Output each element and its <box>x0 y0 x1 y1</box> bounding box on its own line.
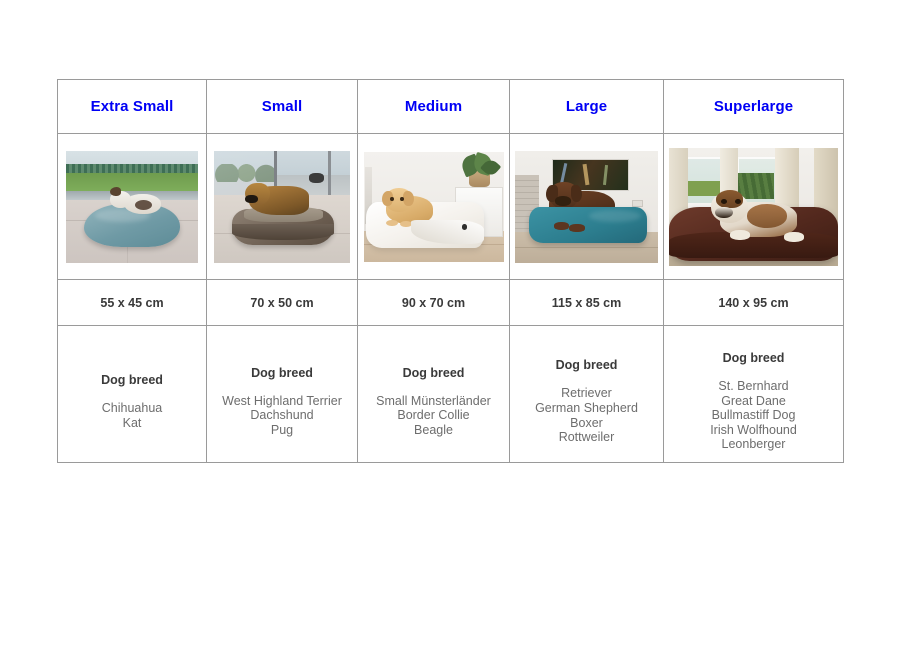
photo-wrapper <box>358 134 509 279</box>
dog-bed-photo-medium <box>364 152 504 262</box>
breed-item: Retriever <box>510 386 663 401</box>
breed-list: RetrieverGerman ShepherdBoxerRottweiler <box>510 386 663 444</box>
breed-list: ChihuahuaKat <box>58 401 206 430</box>
table-row-breeds: Dog breed ChihuahuaKat Dog breed West Hi… <box>58 326 844 463</box>
breed-item: Beagle <box>358 423 509 438</box>
photo-cell-large <box>510 134 664 280</box>
breed-item: Border Collie <box>358 408 509 423</box>
breed-title: Dog breed <box>664 351 843 365</box>
breed-list: West Highland TerrierDachshundPug <box>207 394 357 438</box>
header-cell-small: Small <box>207 80 358 134</box>
photo-wrapper <box>207 134 357 279</box>
breed-item: Leonberger <box>664 437 843 452</box>
dog-bed-photo-extra-small <box>66 151 198 263</box>
photo-scene <box>669 148 838 266</box>
dimensions-label: 70 x 50 cm <box>207 296 357 310</box>
photo-cell-superlarge <box>664 134 844 280</box>
photo-wrapper <box>58 134 206 279</box>
breed-item: Great Dane <box>664 394 843 409</box>
breed-item: Rottweiler <box>510 430 663 445</box>
dimensions-cell-large: 115 x 85 cm <box>510 280 664 326</box>
dimensions-label: 90 x 70 cm <box>358 296 509 310</box>
breed-title: Dog breed <box>58 373 206 387</box>
breed-block: Dog breed Small MünsterländerBorder Coll… <box>358 351 509 438</box>
breed-item: Boxer <box>510 416 663 431</box>
size-header-label: Extra Small <box>58 98 206 115</box>
dog-bed-photo-small <box>214 151 350 263</box>
dog-bed-photo-superlarge <box>669 148 838 266</box>
size-header-label: Small <box>207 98 357 115</box>
breed-title: Dog breed <box>510 358 663 372</box>
dimensions-cell-extra-small: 55 x 45 cm <box>58 280 207 326</box>
photo-scene <box>66 151 198 263</box>
dimensions-label: 140 x 95 cm <box>664 296 843 310</box>
dimensions-cell-superlarge: 140 x 95 cm <box>664 280 844 326</box>
breed-item: Irish Wolfhound <box>664 423 843 438</box>
breeds-cell-extra-small: Dog breed ChihuahuaKat <box>58 326 207 463</box>
breeds-cell-medium: Dog breed Small MünsterländerBorder Coll… <box>358 326 510 463</box>
table-row-headers: Extra Small Small Medium Large Superlarg… <box>58 80 844 134</box>
breeds-cell-small: Dog breed West Highland TerrierDachshund… <box>207 326 358 463</box>
breed-block: Dog breed West Highland TerrierDachshund… <box>207 351 357 438</box>
breeds-cell-large: Dog breed RetrieverGerman ShepherdBoxerR… <box>510 326 664 463</box>
header-cell-extra-small: Extra Small <box>58 80 207 134</box>
breed-block: Dog breed ChihuahuaKat <box>58 358 206 430</box>
photo-cell-small <box>207 134 358 280</box>
header-cell-large: Large <box>510 80 664 134</box>
breed-item: West Highland Terrier <box>207 394 357 409</box>
breed-item: St. Bernhard <box>664 379 843 394</box>
size-header-label: Large <box>510 98 663 115</box>
dimensions-label: 55 x 45 cm <box>58 296 206 310</box>
size-header-label: Medium <box>358 98 509 115</box>
breed-item: Small Münsterländer <box>358 394 509 409</box>
breed-list: St. BernhardGreat DaneBullmastiff DogIri… <box>664 379 843 452</box>
photo-cell-extra-small <box>58 134 207 280</box>
breed-item: Bullmastiff Dog <box>664 408 843 423</box>
table-row-photos <box>58 134 844 280</box>
breed-title: Dog breed <box>358 366 509 380</box>
breed-block: Dog breed St. BernhardGreat DaneBullmast… <box>664 336 843 452</box>
photo-wrapper <box>664 134 843 279</box>
breeds-cell-superlarge: Dog breed St. BernhardGreat DaneBullmast… <box>664 326 844 463</box>
photo-scene <box>364 152 504 262</box>
photo-wrapper <box>510 134 663 279</box>
breed-list: Small MünsterländerBorder CollieBeagle <box>358 394 509 438</box>
photo-scene <box>515 151 658 263</box>
table-row-dimensions: 55 x 45 cm 70 x 50 cm 90 x 70 cm 115 x 8… <box>58 280 844 326</box>
dimensions-cell-small: 70 x 50 cm <box>207 280 358 326</box>
breed-item: Pug <box>207 423 357 438</box>
breed-item: Chihuahua <box>58 401 206 416</box>
breed-title: Dog breed <box>207 366 357 380</box>
dog-bed-size-table: Extra Small Small Medium Large Superlarg… <box>57 79 844 463</box>
breed-item: Kat <box>58 416 206 431</box>
header-cell-medium: Medium <box>358 80 510 134</box>
header-cell-superlarge: Superlarge <box>664 80 844 134</box>
breed-block: Dog breed RetrieverGerman ShepherdBoxerR… <box>510 343 663 444</box>
dimensions-cell-medium: 90 x 70 cm <box>358 280 510 326</box>
photo-scene <box>214 151 350 263</box>
breed-item: German Shepherd <box>510 401 663 416</box>
breed-item: Dachshund <box>207 408 357 423</box>
photo-cell-medium <box>358 134 510 280</box>
dimensions-label: 115 x 85 cm <box>510 296 663 310</box>
dog-bed-photo-large <box>515 151 658 263</box>
size-header-label: Superlarge <box>664 98 843 115</box>
